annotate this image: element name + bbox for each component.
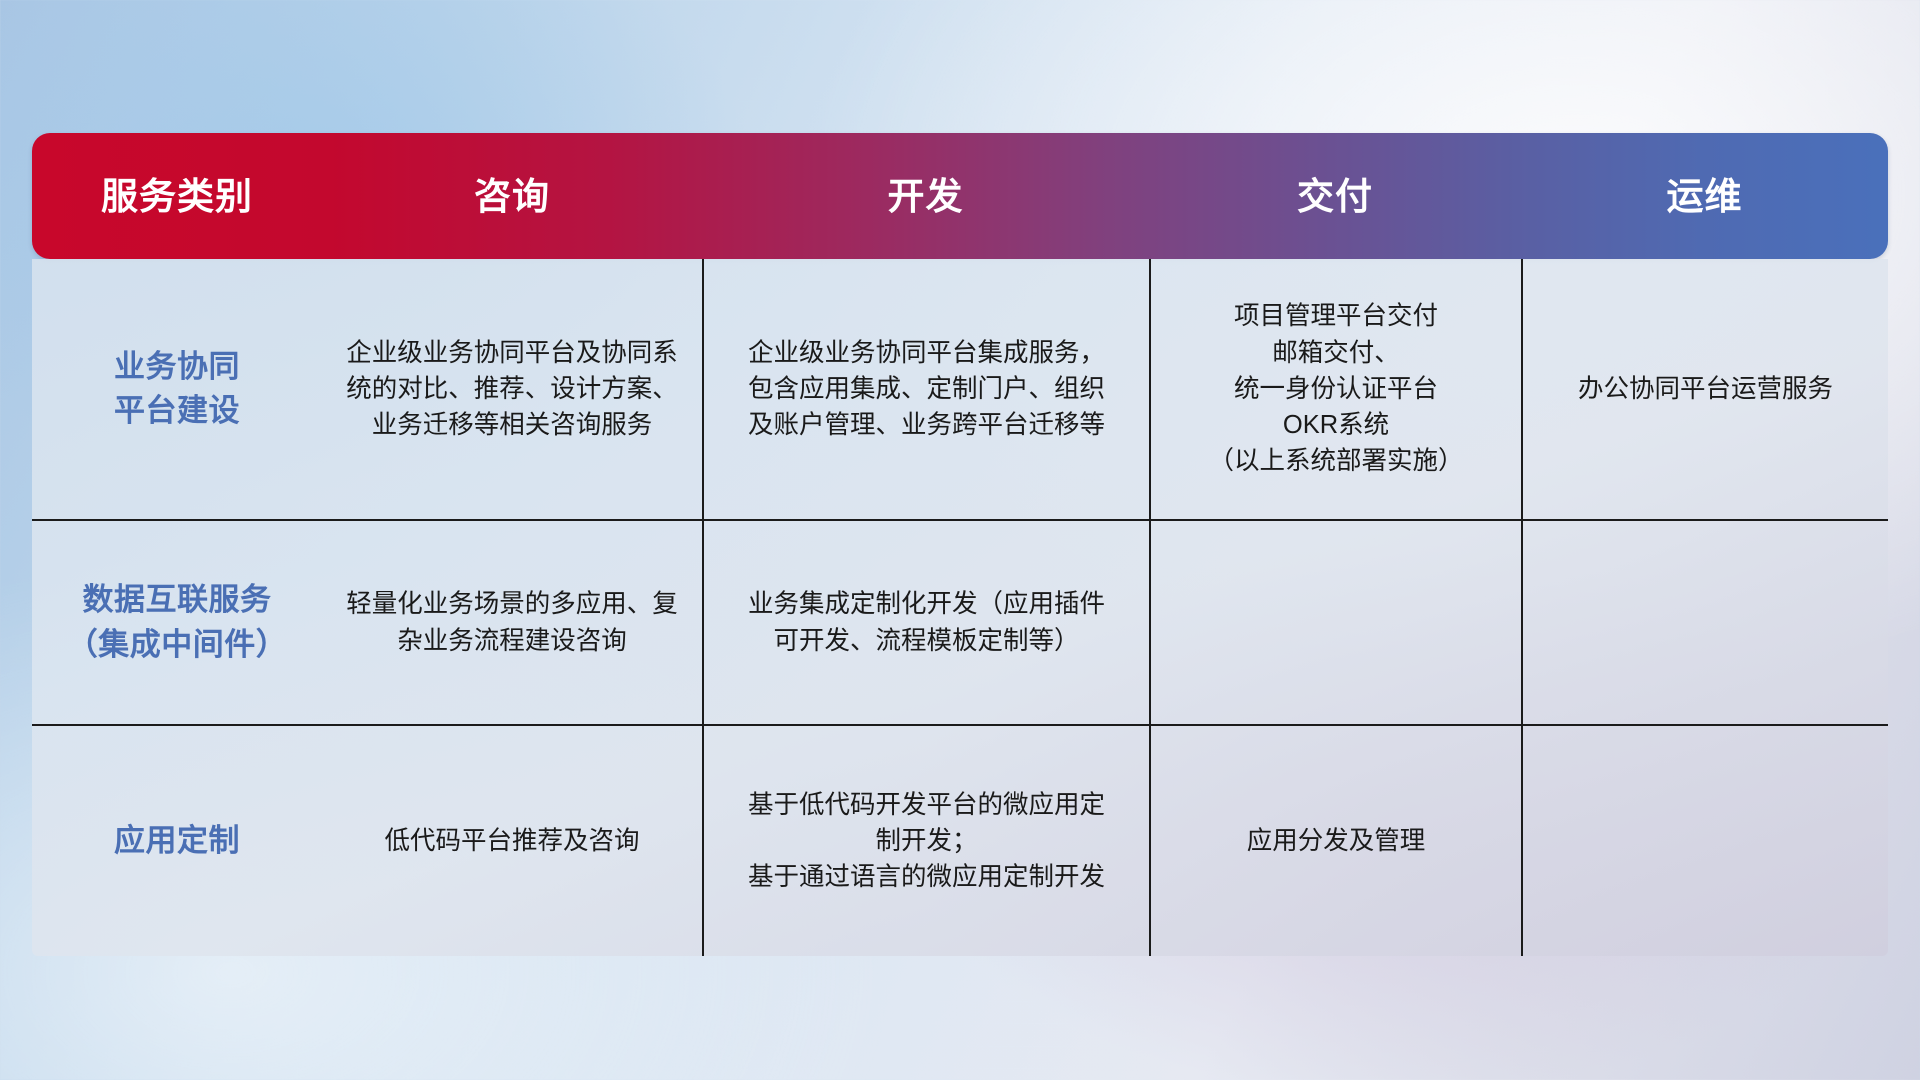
column-header-service-category: 服务类别 [32, 178, 322, 215]
cell-text: 基于低代码开发平台的微应用定制开发；基于通过语言的微应用定制开发 [748, 787, 1105, 896]
cell-category: 数据互联服务（集成中间件） [32, 521, 322, 724]
cell-category: 应用定制 [32, 726, 322, 956]
cell-consulting: 企业级业务协同平台及协同系统的对比、推荐、设计方案、业务迁移等相关咨询服务 [322, 259, 702, 519]
table-row: 业务协同平台建设 企业级业务协同平台及协同系统的对比、推荐、设计方案、业务迁移等… [32, 259, 1888, 519]
column-header-consulting: 咨询 [322, 178, 702, 215]
cell-operations [1521, 521, 1888, 724]
cell-category: 业务协同平台建设 [32, 259, 322, 519]
category-label: 应用定制 [114, 819, 240, 863]
table-row: 数据互联服务（集成中间件） 轻量化业务场景的多应用、复杂业务流程建设咨询 业务集… [32, 519, 1888, 724]
cell-delivery: 项目管理平台交付邮箱交付、统一身份认证平台OKR系统（以上系统部署实施） [1149, 259, 1521, 519]
column-header-delivery: 交付 [1149, 178, 1521, 215]
table-header-row: 服务类别 咨询 开发 交付 运维 [32, 133, 1888, 259]
cell-consulting: 轻量化业务场景的多应用、复杂业务流程建设咨询 [322, 521, 702, 724]
cell-text: 企业级业务协同平台集成服务，包含应用集成、定制门户、组织及账户管理、业务跨平台迁… [748, 335, 1105, 444]
cell-text: 项目管理平台交付邮箱交付、统一身份认证平台OKR系统（以上系统部署实施） [1208, 298, 1463, 479]
cell-delivery [1149, 521, 1521, 724]
column-header-development: 开发 [702, 178, 1149, 215]
service-matrix-table: 服务类别 咨询 开发 交付 运维 业务协同平台建设 企业级业务协同平台及协同系统… [32, 133, 1888, 956]
category-label: 数据互联服务（集成中间件） [67, 578, 288, 666]
table-row: 应用定制 低代码平台推荐及咨询 基于低代码开发平台的微应用定制开发；基于通过语言… [32, 724, 1888, 956]
cell-text: 业务集成定制化开发（应用插件可开发、流程模板定制等） [748, 586, 1105, 658]
cell-text: 低代码平台推荐及咨询 [384, 823, 639, 859]
cell-text: 办公协同平台运营服务 [1578, 371, 1833, 407]
table-body: 业务协同平台建设 企业级业务协同平台及协同系统的对比、推荐、设计方案、业务迁移等… [32, 259, 1888, 956]
cell-development: 业务集成定制化开发（应用插件可开发、流程模板定制等） [702, 521, 1149, 724]
cell-development: 基于低代码开发平台的微应用定制开发；基于通过语言的微应用定制开发 [702, 726, 1149, 956]
cell-text: 轻量化业务场景的多应用、复杂业务流程建设咨询 [346, 586, 678, 658]
cell-text: 应用分发及管理 [1247, 823, 1426, 859]
cell-operations: 办公协同平台运营服务 [1521, 259, 1888, 519]
category-label: 业务协同平台建设 [114, 345, 240, 433]
cell-development: 企业级业务协同平台集成服务，包含应用集成、定制门户、组织及账户管理、业务跨平台迁… [702, 259, 1149, 519]
cell-consulting: 低代码平台推荐及咨询 [322, 726, 702, 956]
cell-operations [1521, 726, 1888, 956]
cell-delivery: 应用分发及管理 [1149, 726, 1521, 956]
column-header-operations: 运维 [1521, 178, 1888, 215]
cell-text: 企业级业务协同平台及协同系统的对比、推荐、设计方案、业务迁移等相关咨询服务 [346, 335, 678, 444]
